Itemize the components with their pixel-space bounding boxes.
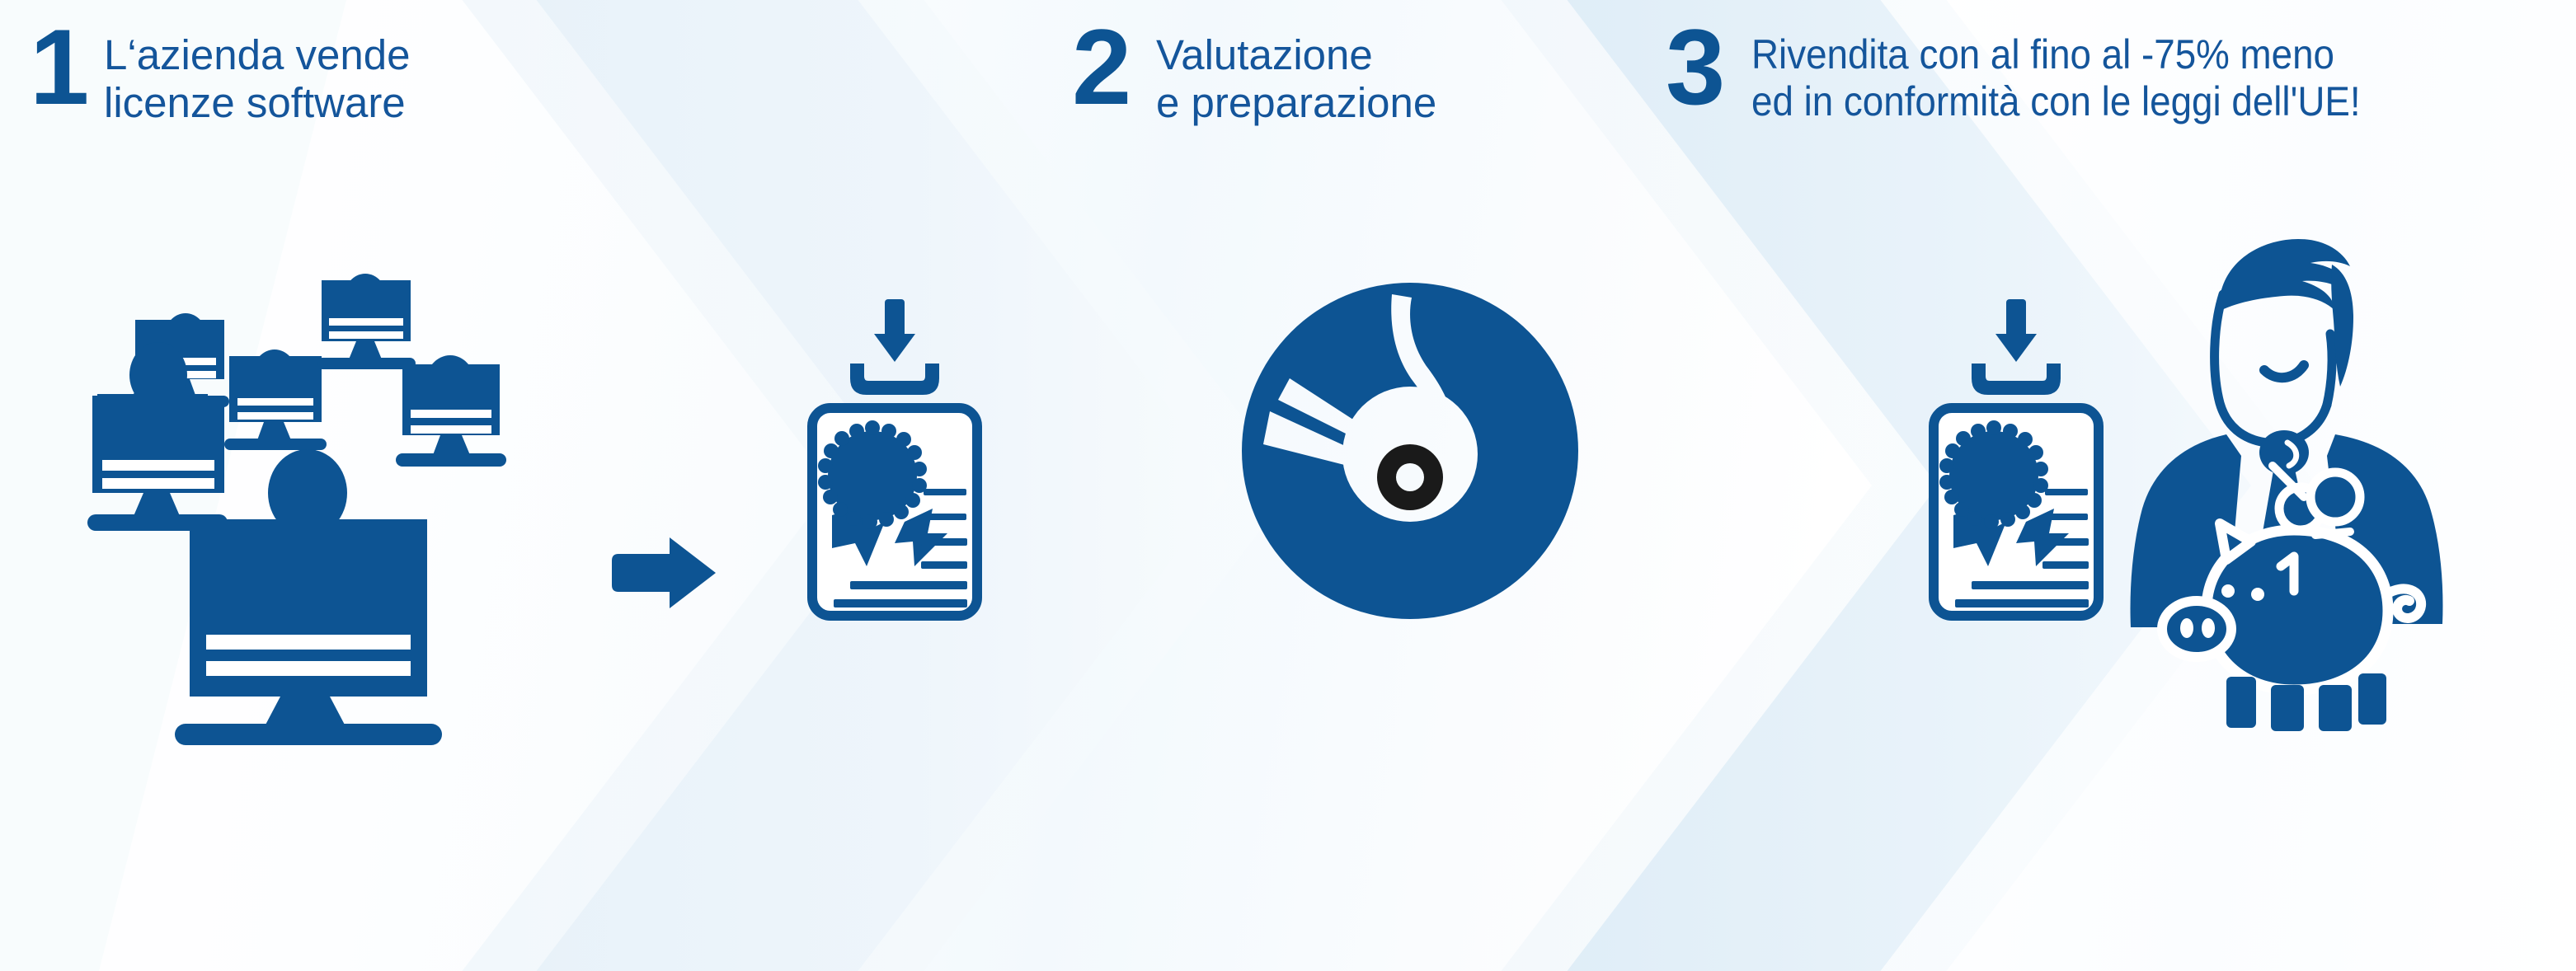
collar-knot xyxy=(2259,430,2309,475)
step-1-number: 1 xyxy=(30,21,87,114)
monitor-small-5 xyxy=(396,355,506,467)
download-arrow-icon-2 xyxy=(1972,299,2061,395)
certificate-document-2 xyxy=(1934,408,2099,616)
monitor-small-4 xyxy=(317,274,416,369)
infographic-canvas: 1 L‘azienda vende licenze software 2 Val… xyxy=(0,0,2576,971)
certificate-document xyxy=(812,408,977,616)
step-2-number: 2 xyxy=(1072,21,1131,114)
step-1-header: 1 L‘azienda vende licenze software xyxy=(30,21,410,127)
step-3-label: Rivendita con al fino al -75% meno ed in… xyxy=(1751,21,2361,125)
license-certificate-icon xyxy=(796,293,1010,631)
monitor-front-large xyxy=(175,449,442,745)
download-arrow-icon xyxy=(850,299,939,395)
disc-hub-hole xyxy=(1396,463,1424,491)
compact-disc-icon xyxy=(1237,276,1583,622)
businessman-piggybank-icon xyxy=(2103,218,2490,754)
step-1-label: L‘azienda vende licenze software xyxy=(104,21,410,127)
step-2-label: Valutazione e preparazione xyxy=(1156,21,1436,127)
step-3-header: 3 Rivendita con al fino al -75% meno ed … xyxy=(1666,21,2417,125)
monitors-network-icon xyxy=(107,272,618,750)
step-2-header: 2 Valutazione e preparazione xyxy=(1072,21,1436,127)
step-3-number: 3 xyxy=(1666,21,1727,114)
face-outline xyxy=(2215,294,2332,443)
license-certificate-icon-2 xyxy=(1917,293,2132,631)
monitor-small-3 xyxy=(224,349,327,450)
right-arrow-icon xyxy=(610,536,717,610)
